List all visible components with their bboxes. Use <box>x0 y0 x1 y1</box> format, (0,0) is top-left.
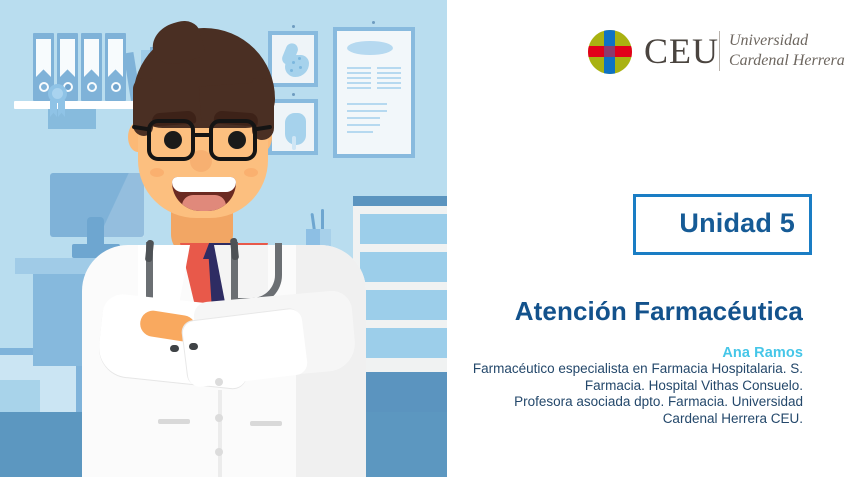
page-title: Atención Farmacéutica <box>515 296 803 327</box>
pharmacist-figure <box>0 0 447 477</box>
affiliation-line: Farmacéutico especialista en Farmacia Ho… <box>443 361 803 378</box>
ceu-logo-subtitle: Universidad Cardenal Herrera <box>729 31 845 71</box>
tongue <box>182 195 226 211</box>
coat-button <box>215 378 223 386</box>
teeth <box>172 177 236 192</box>
logo-subtitle-line-2: Cardenal Herrera <box>729 51 845 71</box>
content-panel: CEU Universidad Cardenal Herrera Unidad … <box>447 0 848 477</box>
logo-center-square <box>604 46 615 57</box>
ceu-logo-mark-icon <box>588 30 632 74</box>
glasses-lens-left <box>147 119 195 161</box>
author-name: Ana Ramos <box>722 345 803 361</box>
coat-center-seam <box>218 390 222 477</box>
logo-subtitle-line-1: Universidad <box>729 31 845 51</box>
unit-badge: Unidad 5 <box>633 194 812 255</box>
glasses-lens-right <box>209 119 257 161</box>
ceu-wordmark: CEU <box>644 31 719 71</box>
author-affiliation: Farmacéutico especialista en Farmacia Ho… <box>443 361 803 427</box>
logo-divider <box>719 31 720 71</box>
coat-pocket-left <box>158 419 190 424</box>
glasses-bridge <box>193 133 211 137</box>
pharmacist-illustration <box>0 0 447 477</box>
affiliation-line: Cardenal Herrera CEU. <box>443 411 803 428</box>
affiliation-line: Farmacia. Hospital Vithas Consuelo. <box>443 378 803 395</box>
affiliation-line: Profesora asociada dpto. Farmacia. Unive… <box>443 394 803 411</box>
coat-button <box>215 448 223 456</box>
stethoscope-nub <box>170 345 179 352</box>
stethoscope-nub <box>189 343 198 350</box>
ceu-logo: CEU Universidad Cardenal Herrera <box>588 26 843 76</box>
coat-pocket-right <box>250 421 282 426</box>
slide-root: CEU Universidad Cardenal Herrera Unidad … <box>0 0 848 477</box>
unit-badge-label: Unidad 5 <box>679 208 795 239</box>
cheek-left <box>150 168 164 177</box>
coat-button <box>215 414 223 422</box>
cheek-right <box>244 168 258 177</box>
